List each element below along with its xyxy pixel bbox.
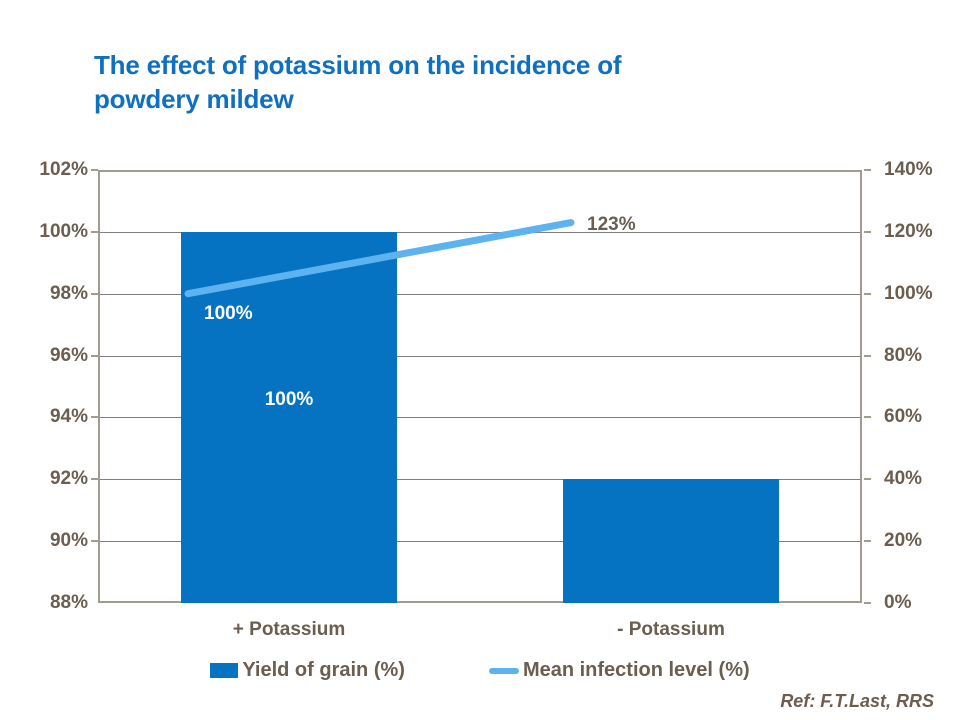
left-axis-tick xyxy=(91,478,98,480)
right-axis-tick xyxy=(864,355,871,357)
line-data-label: 123% xyxy=(587,214,636,236)
chart-legend: Yield of grain (%)Mean infection level (… xyxy=(0,659,960,682)
right-axis-tick xyxy=(864,478,871,480)
legend-label: Mean infection level (%) xyxy=(523,659,750,682)
left-axis-tick-label: 92% xyxy=(50,469,88,488)
right-axis-tick xyxy=(864,540,871,542)
right-axis-tick-label: 40% xyxy=(884,469,922,488)
right-axis-tick-label: 140% xyxy=(884,160,933,179)
chart-canvas: The effect of potassium on the incidence… xyxy=(0,0,960,720)
left-axis-tick xyxy=(91,169,98,171)
right-axis-tick xyxy=(864,231,871,233)
legend-bar-swatch-icon xyxy=(210,663,238,678)
left-axis-tick-label: 98% xyxy=(50,284,88,303)
right-axis-tick-label: 60% xyxy=(884,407,922,426)
left-axis-tick-label: 90% xyxy=(50,531,88,550)
line-data-label: 100% xyxy=(204,303,253,325)
reference-note: Ref: F.T.Last, RRS xyxy=(780,691,934,712)
chart-title: The effect of potassium on the incidence… xyxy=(94,48,814,116)
category-axis-label: - Potassium xyxy=(480,619,862,641)
right-axis-tick-label: 120% xyxy=(884,222,933,241)
left-axis-tick xyxy=(91,355,98,357)
left-axis-tick xyxy=(91,416,98,418)
left-axis-tick xyxy=(91,540,98,542)
left-axis-tick xyxy=(91,293,98,295)
left-axis-tick xyxy=(91,231,98,233)
legend-line-swatch-icon xyxy=(489,668,519,674)
legend-item[interactable]: Mean infection level (%) xyxy=(489,659,750,682)
legend-item[interactable]: Yield of grain (%) xyxy=(210,659,405,682)
bar xyxy=(181,232,397,603)
right-axis-tick xyxy=(864,602,871,604)
right-axis-tick-label: 0% xyxy=(884,593,911,612)
left-axis-tick-label: 96% xyxy=(50,346,88,365)
right-axis-tick-label: 80% xyxy=(884,346,922,365)
left-axis-tick-label: 100% xyxy=(39,222,88,241)
left-axis-tick-label: 94% xyxy=(50,407,88,426)
left-axis-tick-label: 88% xyxy=(50,593,88,612)
right-axis-tick xyxy=(864,293,871,295)
left-axis-tick-label: 102% xyxy=(39,160,88,179)
right-axis-tick xyxy=(864,416,871,418)
plot-area: 100%92% xyxy=(98,170,862,603)
bar xyxy=(563,479,779,603)
right-axis-tick-label: 20% xyxy=(884,531,922,550)
right-axis-tick xyxy=(864,169,871,171)
category-axis-label: + Potassium xyxy=(98,619,480,641)
right-axis-tick-label: 100% xyxy=(884,284,933,303)
legend-label: Yield of grain (%) xyxy=(242,659,405,682)
bar-data-label: 100% xyxy=(181,389,397,411)
